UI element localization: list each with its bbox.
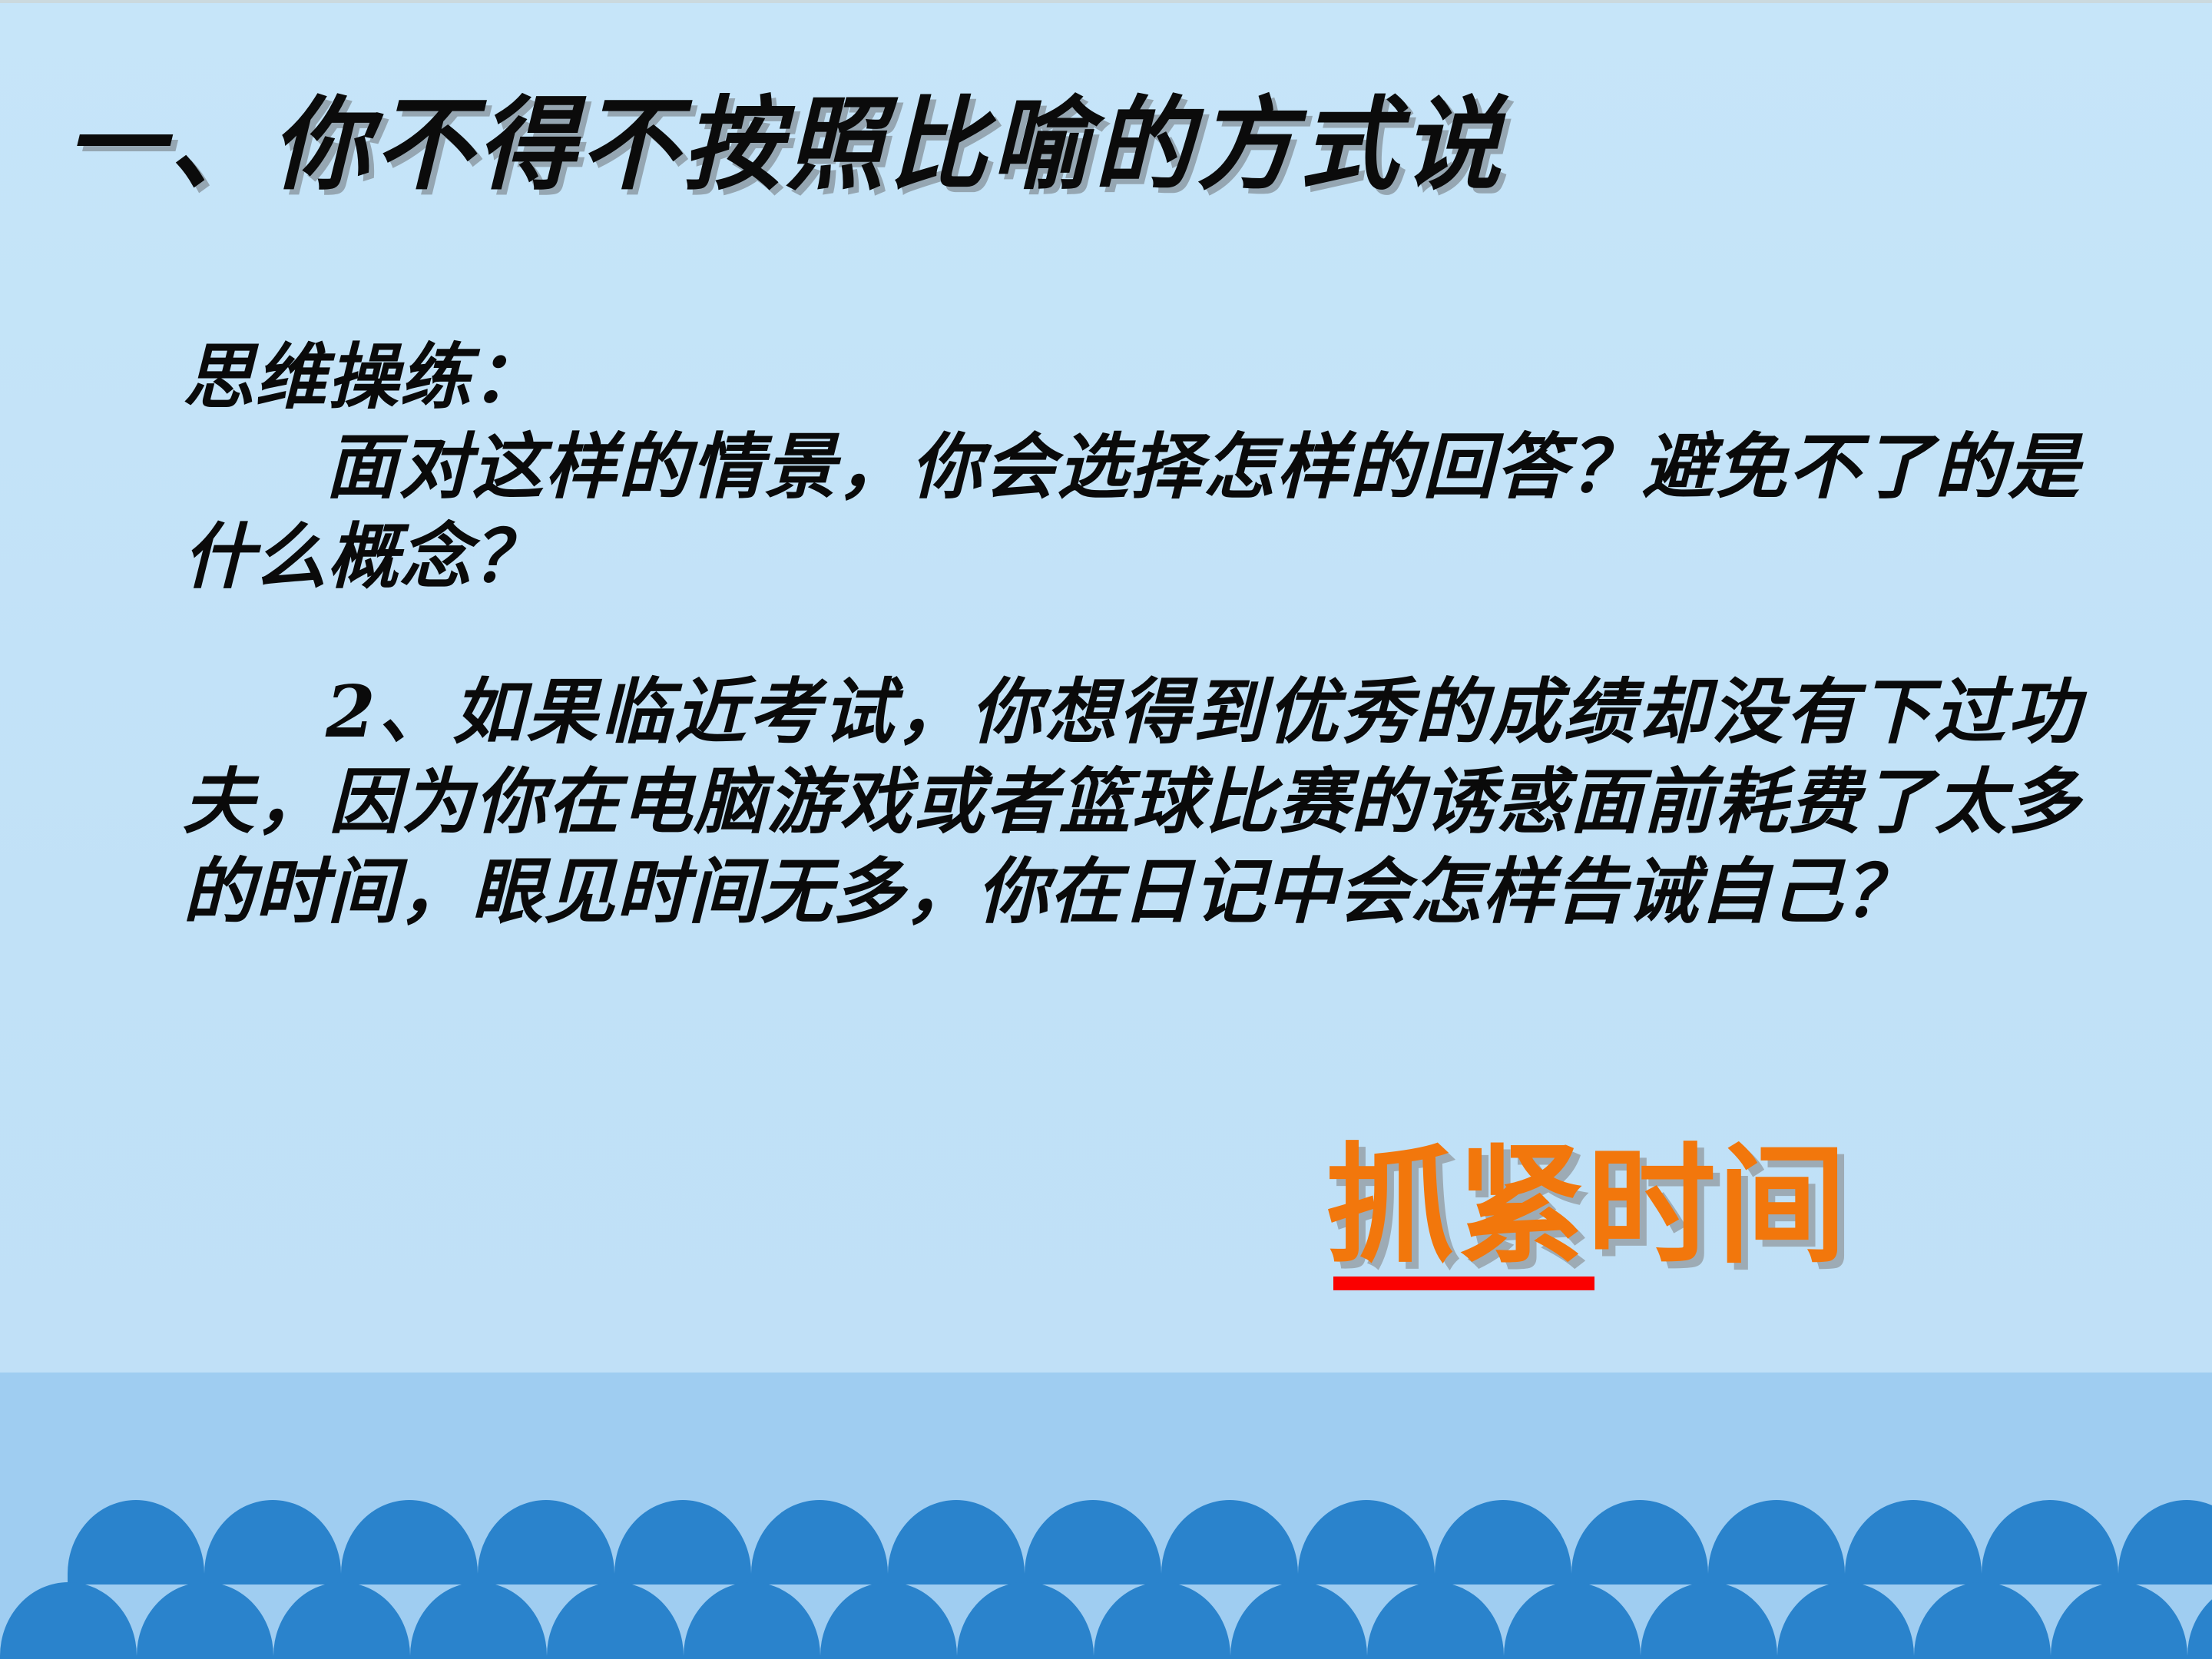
page-title: 一、你不得不按照比喻的方式说	[66, 92, 1505, 199]
dome-shape	[1845, 1500, 1982, 1584]
paragraph-spacer	[183, 602, 2080, 667]
dome-shape	[1571, 1500, 1708, 1584]
dome-shape	[2118, 1500, 2212, 1584]
dome-shape	[2051, 1582, 2187, 1659]
body-heading: 思维操练：	[183, 332, 2080, 422]
dome-shape	[1298, 1500, 1435, 1584]
emphasis-block: 抓紧时间	[1326, 1141, 1848, 1295]
dome-shape	[1641, 1582, 1777, 1659]
dome-shape	[820, 1582, 957, 1659]
dome-shape	[410, 1582, 547, 1659]
dome-shape	[1504, 1582, 1641, 1659]
dome-shape	[137, 1582, 273, 1659]
body-paragraph-1: 面对这样的情景，你会选择怎样的回答？避免不了的是什么概念？	[183, 422, 2080, 601]
dome-shape	[1094, 1582, 1230, 1659]
dome-shape	[0, 1582, 137, 1659]
body-paragraph-2: 2、如果临近考试，你想得到优秀的成绩却没有下过功夫，因为你在电脑游戏或者篮球比赛…	[183, 667, 2080, 937]
top-hairline	[0, 0, 2212, 3]
dome-shape	[1435, 1500, 1571, 1584]
dome-shape	[478, 1500, 614, 1584]
dome-shape	[273, 1582, 410, 1659]
dome-shape	[547, 1582, 684, 1659]
dome-shape	[68, 1500, 204, 1584]
emphasis-text: 抓紧时间	[1326, 1141, 1848, 1270]
dome-shape	[1161, 1500, 1298, 1584]
slide-canvas: 一、你不得不按照比喻的方式说 思维操练： 面对这样的情景，你会选择怎样的回答？避…	[0, 0, 2212, 1659]
dome-shape	[684, 1582, 820, 1659]
dome-row-lower	[0, 1582, 2212, 1659]
dome-shape	[341, 1500, 478, 1584]
dome-shape	[2187, 1582, 2212, 1659]
emphasis-underline-bar	[1333, 1277, 1594, 1290]
dome-shape	[1025, 1500, 1161, 1584]
dome-row-upper	[0, 1500, 2212, 1584]
dome-shape	[1914, 1582, 2051, 1659]
dome-shape	[1777, 1582, 1914, 1659]
body-text-block: 思维操练： 面对这样的情景，你会选择怎样的回答？避免不了的是什么概念？ 2、如果…	[183, 332, 2080, 936]
footer-decoration	[0, 1373, 2212, 1659]
dome-shape	[614, 1500, 751, 1584]
dome-shape	[204, 1500, 341, 1584]
dome-shape	[751, 1500, 888, 1584]
dome-shape	[1367, 1582, 1504, 1659]
dome-shape	[888, 1500, 1025, 1584]
dome-shape	[1708, 1500, 1845, 1584]
dome-shape	[1982, 1500, 2118, 1584]
dome-shape	[1230, 1582, 1367, 1659]
dome-shape	[957, 1582, 1094, 1659]
